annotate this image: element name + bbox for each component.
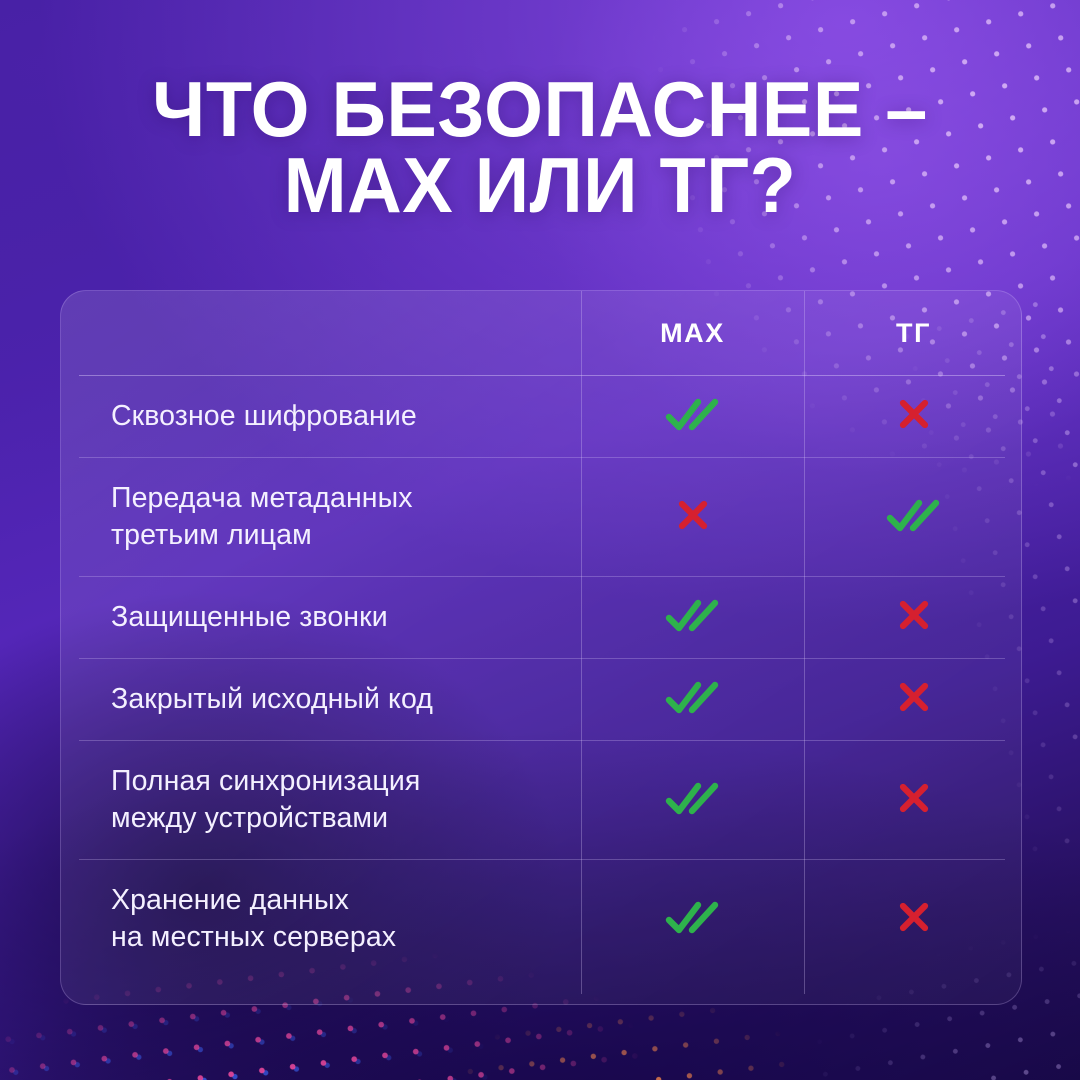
comparison-table: MAX ТГ Сквозное шифрованиеПередача метад… xyxy=(61,291,1022,978)
cross-icon xyxy=(894,677,934,722)
double-check-icon xyxy=(885,495,943,540)
poster-canvas: ЧТО БЕЗОПАСНЕЕ – MAX ИЛИ ТГ? MAX ТГ Скво… xyxy=(0,0,1080,1080)
cell-tg xyxy=(804,860,1022,978)
feature-label: Полная синхронизация между устройствами xyxy=(61,741,581,859)
cross-icon xyxy=(894,778,934,823)
double-check-icon xyxy=(664,897,722,942)
cell-max xyxy=(581,741,804,859)
cross-icon xyxy=(894,595,934,640)
cell-tg xyxy=(804,741,1022,859)
double-check-icon xyxy=(664,595,722,640)
column-header-max: MAX xyxy=(581,291,804,375)
double-check-icon xyxy=(664,677,722,722)
page-title: ЧТО БЕЗОПАСНЕЕ – MAX ИЛИ ТГ? xyxy=(16,72,1064,223)
cell-tg xyxy=(804,577,1022,658)
cell-max xyxy=(581,458,804,576)
feature-label: Передача метаданных третьим лицам xyxy=(61,458,581,576)
double-check-icon xyxy=(664,778,722,823)
comparison-card: MAX ТГ Сквозное шифрованиеПередача метад… xyxy=(60,290,1022,1005)
cell-max xyxy=(581,860,804,978)
cell-max xyxy=(581,659,804,740)
column-divider-1 xyxy=(581,291,582,994)
table-row: Сквозное шифрование xyxy=(61,376,1022,457)
table-row: Полная синхронизация между устройствами xyxy=(61,741,1022,859)
table-row: Закрытый исходный код xyxy=(61,659,1022,740)
table-body: Сквозное шифрованиеПередача метаданных т… xyxy=(61,375,1022,978)
feature-label: Сквозное шифрование xyxy=(61,376,581,457)
cross-icon xyxy=(894,897,934,942)
column-divider-2 xyxy=(804,291,805,994)
cross-icon xyxy=(894,394,934,439)
feature-label: Закрытый исходный код xyxy=(61,659,581,740)
cell-tg xyxy=(804,659,1022,740)
cross-icon xyxy=(673,495,713,540)
table-header: MAX ТГ xyxy=(61,291,1022,375)
double-check-icon xyxy=(664,394,722,439)
cell-max xyxy=(581,577,804,658)
column-header-feature xyxy=(61,291,581,375)
column-header-tg: ТГ xyxy=(804,291,1022,375)
table-row: Защищенные звонки xyxy=(61,577,1022,658)
table-row: Передача метаданных третьим лицам xyxy=(61,458,1022,576)
feature-label: Защищенные звонки xyxy=(61,577,581,658)
cell-tg xyxy=(804,458,1022,576)
cell-max xyxy=(581,376,804,457)
table-row: Хранение данных на местных серверах xyxy=(61,860,1022,978)
cell-tg xyxy=(804,376,1022,457)
feature-label: Хранение данных на местных серверах xyxy=(61,860,581,978)
